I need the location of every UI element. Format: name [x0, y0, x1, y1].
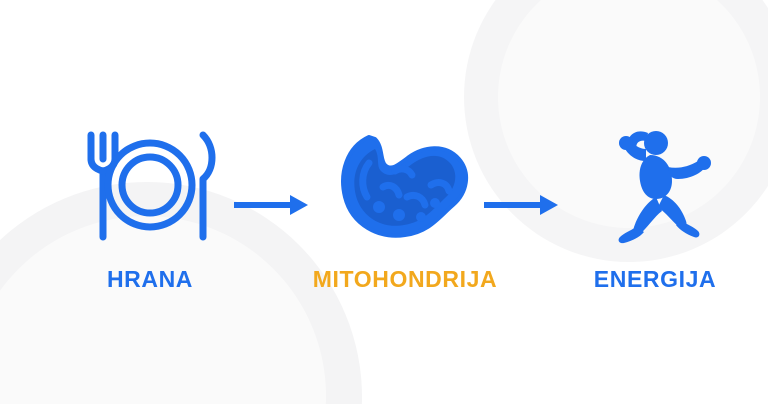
flow-node-mitochondria-label: MITOHONDRIJA: [290, 266, 520, 293]
process-flow: HRANA: [0, 0, 768, 404]
flow-node-energy-label: ENERGIJA: [560, 266, 750, 293]
diagram-canvas: HRANA: [0, 0, 768, 404]
fork-plate-knife-icon: [60, 120, 240, 250]
flow-node-food: HRANA: [60, 120, 240, 293]
flow-node-energy: ENERGIJA: [560, 120, 750, 293]
mitochondrion-icon: [290, 120, 520, 250]
arrow-right-icon-2: [482, 192, 562, 223]
flow-node-food-label: HRANA: [60, 266, 240, 293]
running-person-icon: [560, 120, 750, 250]
